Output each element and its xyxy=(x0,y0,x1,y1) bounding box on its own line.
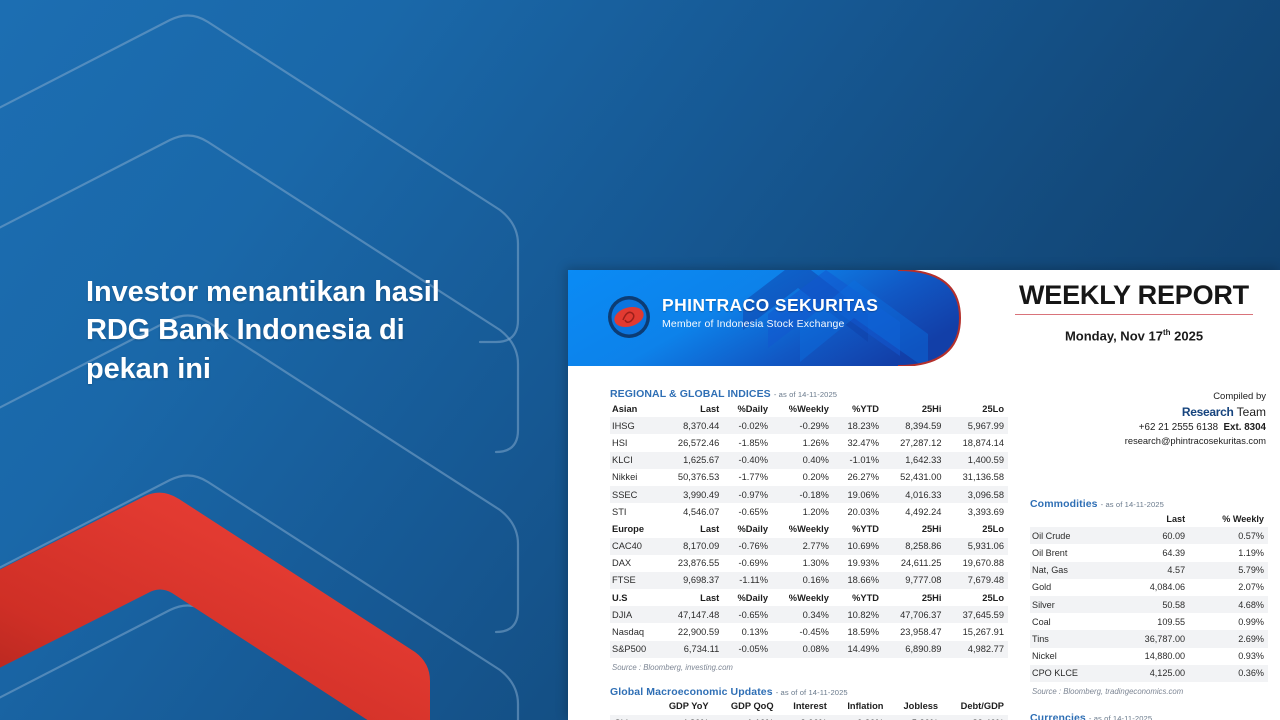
indices-row: DAX23,876.55-0.69%1.30%19.93%24,611.2519… xyxy=(610,555,1008,572)
table-cell: -0.97% xyxy=(723,486,772,503)
table-cell: 8,258.86 xyxy=(883,538,945,555)
table-cell: HSI xyxy=(610,434,661,451)
column-header: Last xyxy=(661,520,723,537)
macro-section-heading: Global Macroeconomic Updates - as of of … xyxy=(610,686,1008,698)
table-cell: 23,876.55 xyxy=(661,555,723,572)
column-header: Jobless xyxy=(887,698,942,715)
table-cell: IHSG xyxy=(610,417,661,434)
table-cell: Nat, Gas xyxy=(1030,562,1112,579)
contact-ext: Ext. 8304 xyxy=(1224,422,1266,433)
indices-group-header-Asian: AsianLast%Daily%Weekly%YTD25Hi25Lo xyxy=(610,400,1008,417)
indices-asof: - as of 14-11-2025 xyxy=(774,390,837,399)
table-cell: 9,777.08 xyxy=(883,572,945,589)
indices-row: STI4,546.07-0.65%1.20%20.03%4,492.243,39… xyxy=(610,503,1008,520)
report-title-block: WEEKLY REPORT Monday, Nov 17th 2025 xyxy=(988,280,1280,343)
table-cell: 0.34% xyxy=(772,606,833,623)
column-header: 25Hi xyxy=(883,589,945,606)
table-cell: 1.10% xyxy=(713,715,778,720)
column-header: U.S xyxy=(610,589,661,606)
contact-email[interactable]: research@phintracosekuritas.com xyxy=(1125,435,1266,448)
column-header: Interest xyxy=(778,698,831,715)
column-header: 25Hi xyxy=(883,520,945,537)
column-header xyxy=(1030,510,1112,527)
table-cell: 5.79% xyxy=(1189,562,1268,579)
table-cell: -0.65% xyxy=(723,606,772,623)
table-cell: 10.82% xyxy=(833,606,883,623)
table-cell: -0.65% xyxy=(723,503,772,520)
table-cell: 18,874.14 xyxy=(945,434,1008,451)
table-cell: 60.09 xyxy=(1112,527,1189,544)
table-cell: 1.19% xyxy=(1189,544,1268,561)
table-cell: Nickel xyxy=(1030,648,1112,665)
table-cell: 3.00% xyxy=(778,715,831,720)
table-cell: 7,679.48 xyxy=(945,572,1008,589)
commodities-row: Silver50.584.68% xyxy=(1030,596,1268,613)
table-cell: 5,931.06 xyxy=(945,538,1008,555)
table-cell: 0.36% xyxy=(1189,665,1268,682)
macro-table: GDP YoYGDP QoQInterestInflationJoblessDe… xyxy=(610,698,1008,720)
table-cell: 4,546.07 xyxy=(661,503,723,520)
table-cell: 19.06% xyxy=(833,486,883,503)
indices-row: Nasdaq22,900.590.13%-0.45%18.59%23,958.4… xyxy=(610,623,1008,640)
table-cell: 15,267.91 xyxy=(945,623,1008,640)
table-cell: 1.26% xyxy=(772,434,833,451)
column-header: 25Lo xyxy=(945,400,1008,417)
column-header: Last xyxy=(661,400,723,417)
indices-row: HSI26,572.46-1.85%1.26%32.47%27,287.1218… xyxy=(610,434,1008,451)
table-cell: 1,625.67 xyxy=(661,452,723,469)
table-cell: 18.59% xyxy=(833,623,883,640)
table-cell: 3,990.49 xyxy=(661,486,723,503)
indices-row: KLCI1,625.67-0.40%0.40%-1.01%1,642.331,4… xyxy=(610,452,1008,469)
table-cell: CPO KLCE xyxy=(1030,665,1112,682)
table-cell: 19.93% xyxy=(833,555,883,572)
table-cell: 8,170.09 xyxy=(661,538,723,555)
table-cell: 6,890.89 xyxy=(883,641,945,658)
table-cell: 50,376.53 xyxy=(661,469,723,486)
table-cell: FTSE xyxy=(610,572,661,589)
table-cell: Silver xyxy=(1030,596,1112,613)
table-cell: 0.16% xyxy=(772,572,833,589)
table-cell: S&P500 xyxy=(610,641,661,658)
table-cell: 1,400.59 xyxy=(945,452,1008,469)
table-cell: China xyxy=(610,715,651,720)
table-cell: 50.58 xyxy=(1112,596,1189,613)
commodities-section: Commodities - as of 14-11-2025 Last% Wee… xyxy=(1030,498,1268,696)
table-cell: 8,394.59 xyxy=(883,417,945,434)
table-cell: Gold xyxy=(1030,579,1112,596)
table-cell: -1.11% xyxy=(723,572,772,589)
column-header: Asian xyxy=(610,400,661,417)
table-cell: 64.39 xyxy=(1112,544,1189,561)
report-title: WEEKLY REPORT xyxy=(1015,280,1253,315)
phintraco-logo-icon xyxy=(606,294,652,340)
commodities-row: Nat, Gas4.575.79% xyxy=(1030,562,1268,579)
macro-section: Global Macroeconomic Updates - as of of … xyxy=(610,686,1008,720)
compiled-by-team: Research Team xyxy=(1125,404,1266,421)
report-date-suffix: 2025 xyxy=(1171,328,1204,343)
table-cell: -1.01% xyxy=(833,452,883,469)
table-cell: Oil Crude xyxy=(1030,527,1112,544)
commodities-row: Nickel14,880.000.93% xyxy=(1030,648,1268,665)
table-cell: 8,370.44 xyxy=(661,417,723,434)
table-cell: 47,147.48 xyxy=(661,606,723,623)
indices-row: S&P5006,734.11-0.05%0.08%14.49%6,890.894… xyxy=(610,641,1008,658)
commodities-row: Gold4,084.062.07% xyxy=(1030,579,1268,596)
table-cell: -0.29% xyxy=(772,417,833,434)
macro-heading-text: Global Macroeconomic Updates xyxy=(610,686,773,698)
column-header: Inflation xyxy=(831,698,888,715)
commodities-source: Source : Bloomberg, tradingeconomics.com xyxy=(1030,687,1268,696)
table-cell: 26.27% xyxy=(833,469,883,486)
table-cell: -0.18% xyxy=(772,486,833,503)
column-header: %Weekly xyxy=(772,589,833,606)
table-cell: Nasdaq xyxy=(610,623,661,640)
commodities-section-heading: Commodities - as of 14-11-2025 xyxy=(1030,498,1268,510)
weekly-report-document[interactable]: PHINTRACO SEKURITAS Member of Indonesia … xyxy=(568,270,1280,720)
commodities-row: Oil Brent64.391.19% xyxy=(1030,544,1268,561)
table-cell: DAX xyxy=(610,555,661,572)
column-header: %YTD xyxy=(833,520,883,537)
table-cell: 4,016.33 xyxy=(883,486,945,503)
document-right-column: Commodities - as of 14-11-2025 Last% Wee… xyxy=(1030,498,1268,720)
table-cell: 4.57 xyxy=(1112,562,1189,579)
column-header: %YTD xyxy=(833,400,883,417)
commodities-asof: - as of 14-11-2025 xyxy=(1101,500,1164,509)
column-header: %Weekly xyxy=(772,520,833,537)
table-cell: Nikkei xyxy=(610,469,661,486)
table-cell: 23,958.47 xyxy=(883,623,945,640)
table-cell: 32.47% xyxy=(833,434,883,451)
table-cell: 0.40% xyxy=(772,452,833,469)
table-cell: 18.66% xyxy=(833,572,883,589)
table-cell: 20.03% xyxy=(833,503,883,520)
table-cell: Oil Brent xyxy=(1030,544,1112,561)
commodities-header-row: Last% Weekly xyxy=(1030,510,1268,527)
commodities-heading-text: Commodities xyxy=(1030,498,1098,510)
table-cell: 47,706.37 xyxy=(883,606,945,623)
table-cell: 0.57% xyxy=(1189,527,1268,544)
currencies-asof: - as of 14-11-2025 xyxy=(1089,714,1152,720)
team-name-rest: Team xyxy=(1234,405,1266,419)
commodities-table: Last% WeeklyOil Crude60.090.57%Oil Brent… xyxy=(1030,510,1268,682)
column-header xyxy=(610,698,651,715)
table-cell: -0.40% xyxy=(723,452,772,469)
team-name-bold: Research xyxy=(1182,405,1234,419)
table-cell: 9,698.37 xyxy=(661,572,723,589)
table-cell: Tins xyxy=(1030,630,1112,647)
indices-group-header-Europe: EuropeLast%Daily%Weekly%YTD25Hi25Lo xyxy=(610,520,1008,537)
table-cell: CAC40 xyxy=(610,538,661,555)
table-cell: 4,492.24 xyxy=(883,503,945,520)
table-cell: 3,096.58 xyxy=(945,486,1008,503)
table-cell: 83.40% xyxy=(942,715,1008,720)
indices-row: FTSE9,698.37-1.11%0.16%18.66%9,777.087,6… xyxy=(610,572,1008,589)
table-cell: 5.20% xyxy=(887,715,942,720)
table-cell: -0.05% xyxy=(723,641,772,658)
table-cell: 109.55 xyxy=(1112,613,1189,630)
table-cell: 0.20% xyxy=(772,469,833,486)
indices-group-header-U.S: U.SLast%Daily%Weekly%YTD25Hi25Lo xyxy=(610,589,1008,606)
table-cell: -0.69% xyxy=(723,555,772,572)
table-cell: 52,431.00 xyxy=(883,469,945,486)
compiled-by-label: Compiled by xyxy=(1125,390,1266,404)
table-cell: 2.69% xyxy=(1189,630,1268,647)
table-cell: 5,967.99 xyxy=(945,417,1008,434)
macro-row: China4.80%1.10%3.00%0.20%5.20%83.40% xyxy=(610,715,1008,720)
commodities-row: CPO KLCE4,125.000.36% xyxy=(1030,665,1268,682)
table-cell: 4,125.00 xyxy=(1112,665,1189,682)
indices-section-heading: REGIONAL & GLOBAL INDICES - as of 14-11-… xyxy=(610,388,1008,400)
table-cell: -1.77% xyxy=(723,469,772,486)
table-cell: 14,880.00 xyxy=(1112,648,1189,665)
indices-row: Nikkei50,376.53-1.77%0.20%26.27%52,431.0… xyxy=(610,469,1008,486)
column-header: GDP YoY xyxy=(651,698,712,715)
column-header: %Daily xyxy=(723,520,772,537)
indices-row: DJIA47,147.48-0.65%0.34%10.82%47,706.373… xyxy=(610,606,1008,623)
column-header: 25Hi xyxy=(883,400,945,417)
currencies-section-heading: Currencies - as of 14-11-2025 xyxy=(1030,712,1268,720)
column-header: %Daily xyxy=(723,589,772,606)
compiled-by-block: Compiled by Research Team +62 21 2555 61… xyxy=(1125,390,1266,449)
table-cell: SSEC xyxy=(610,486,661,503)
table-cell: KLCI xyxy=(610,452,661,469)
contact-phone: +62 21 2555 6138 xyxy=(1139,422,1218,433)
column-header: Last xyxy=(661,589,723,606)
table-cell: -0.45% xyxy=(772,623,833,640)
page-title: Investor menantikan hasil RDG Bank Indon… xyxy=(86,273,486,388)
table-cell: DJIA xyxy=(610,606,661,623)
table-cell: 36,787.00 xyxy=(1112,630,1189,647)
document-left-column: REGIONAL & GLOBAL INDICES - as of 14-11-… xyxy=(610,388,1008,720)
table-cell: 1.30% xyxy=(772,555,833,572)
table-cell: 24,611.25 xyxy=(883,555,945,572)
indices-table: AsianLast%Daily%Weekly%YTD25Hi25LoIHSG8,… xyxy=(610,400,1008,658)
table-cell: 4.80% xyxy=(651,715,712,720)
table-cell: 6,734.11 xyxy=(661,641,723,658)
table-cell: 18.23% xyxy=(833,417,883,434)
currencies-heading-text: Currencies xyxy=(1030,712,1086,720)
column-header: Europe xyxy=(610,520,661,537)
column-header: Last xyxy=(1112,510,1189,527)
column-header: GDP QoQ xyxy=(713,698,778,715)
table-cell: 14.49% xyxy=(833,641,883,658)
indices-row: CAC408,170.09-0.76%2.77%10.69%8,258.865,… xyxy=(610,538,1008,555)
table-cell: 2.07% xyxy=(1189,579,1268,596)
indices-row: IHSG8,370.44-0.02%-0.29%18.23%8,394.595,… xyxy=(610,417,1008,434)
indices-heading-text: REGIONAL & GLOBAL INDICES xyxy=(610,388,771,400)
table-cell: -0.02% xyxy=(723,417,772,434)
commodities-row: Coal109.550.99% xyxy=(1030,613,1268,630)
macro-asof: - as of of 14-11-2025 xyxy=(776,688,848,697)
table-cell: Coal xyxy=(1030,613,1112,630)
report-date-ordinal: th xyxy=(1163,328,1171,337)
table-cell: STI xyxy=(610,503,661,520)
table-cell: 2.77% xyxy=(772,538,833,555)
table-cell: 0.20% xyxy=(831,715,888,720)
brand-name: PHINTRACO SEKURITAS xyxy=(662,295,878,315)
macro-header-row: GDP YoYGDP QoQInterestInflationJoblessDe… xyxy=(610,698,1008,715)
column-header: 25Lo xyxy=(945,589,1008,606)
column-header: 25Lo xyxy=(945,520,1008,537)
table-cell: 4,084.06 xyxy=(1112,579,1189,596)
commodities-row: Oil Crude60.090.57% xyxy=(1030,527,1268,544)
column-header: Debt/GDP xyxy=(942,698,1008,715)
column-header: %Weekly xyxy=(772,400,833,417)
column-header: % Weekly xyxy=(1189,510,1268,527)
column-header: %YTD xyxy=(833,589,883,606)
table-cell: 1.20% xyxy=(772,503,833,520)
table-cell: 10.69% xyxy=(833,538,883,555)
table-cell: 4.68% xyxy=(1189,596,1268,613)
commodities-row: Tins36,787.002.69% xyxy=(1030,630,1268,647)
table-cell: 31,136.58 xyxy=(945,469,1008,486)
table-cell: 26,572.46 xyxy=(661,434,723,451)
table-cell: 22,900.59 xyxy=(661,623,723,640)
slide-root: Investor menantikan hasil RDG Bank Indon… xyxy=(0,0,1280,720)
table-cell: 3,393.69 xyxy=(945,503,1008,520)
table-cell: 1,642.33 xyxy=(883,452,945,469)
table-cell: 0.99% xyxy=(1189,613,1268,630)
table-cell: 0.13% xyxy=(723,623,772,640)
brand-text: PHINTRACO SEKURITAS Member of Indonesia … xyxy=(662,295,878,330)
table-cell: 37,645.59 xyxy=(945,606,1008,623)
table-cell: 0.93% xyxy=(1189,648,1268,665)
table-cell: 0.08% xyxy=(772,641,833,658)
table-cell: -0.76% xyxy=(723,538,772,555)
table-cell: -1.85% xyxy=(723,434,772,451)
indices-source: Source : Bloomberg, investing.com xyxy=(610,663,1008,672)
indices-row: SSEC3,990.49-0.97%-0.18%19.06%4,016.333,… xyxy=(610,486,1008,503)
table-cell: 27,287.12 xyxy=(883,434,945,451)
report-date-prefix: Monday, Nov 17 xyxy=(1065,328,1163,343)
table-cell: 4,982.77 xyxy=(945,641,1008,658)
compiled-contact-line: +62 21 2555 6138 Ext. 8304 xyxy=(1125,421,1266,435)
report-date: Monday, Nov 17th 2025 xyxy=(988,328,1280,343)
table-cell: 19,670.88 xyxy=(945,555,1008,572)
document-header-band: PHINTRACO SEKURITAS Member of Indonesia … xyxy=(568,270,988,366)
brand-subtitle: Member of Indonesia Stock Exchange xyxy=(662,318,878,330)
column-header: %Daily xyxy=(723,400,772,417)
